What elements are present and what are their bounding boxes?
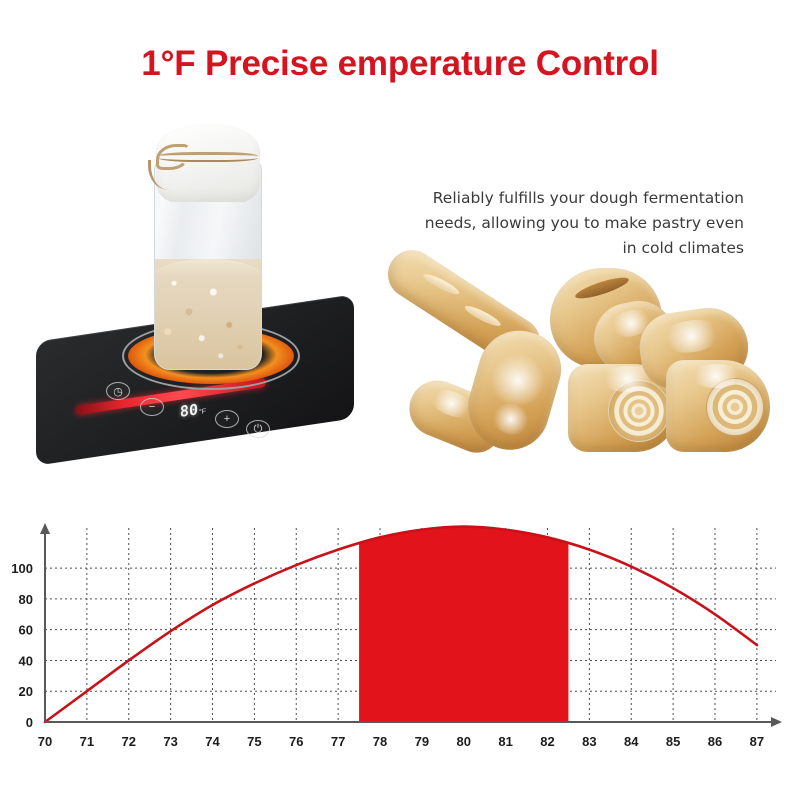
x-tick-label: 80 bbox=[457, 734, 471, 749]
x-tick-label: 77 bbox=[331, 734, 345, 749]
y-tick-label: 40 bbox=[19, 653, 33, 668]
plus-button[interactable]: + bbox=[215, 410, 239, 428]
bread-assortment-photo bbox=[378, 268, 776, 480]
chart-x-tick-labels: 707172737475767778798081828384858687 bbox=[38, 734, 764, 749]
jar-twine-tail bbox=[148, 160, 174, 190]
x-tick-label: 82 bbox=[540, 734, 554, 749]
x-tick-label: 74 bbox=[205, 734, 220, 749]
temperature-distribution-chart: 707172737475767778798081828384858687 020… bbox=[0, 505, 800, 800]
description-line-1: Reliably fulfills your dough fermentatio… bbox=[392, 186, 744, 211]
x-tick-label: 75 bbox=[247, 734, 261, 749]
chart-svg: 707172737475767778798081828384858687 020… bbox=[0, 505, 800, 800]
timer-glyph: ◷ bbox=[113, 385, 123, 398]
fermentation-jar bbox=[140, 120, 275, 370]
power-glyph: ⏻ bbox=[254, 423, 263, 436]
x-tick-label: 81 bbox=[498, 734, 512, 749]
right-front-swirl-loaf bbox=[666, 360, 770, 452]
description-block: Reliably fulfills your dough fermentatio… bbox=[392, 186, 744, 261]
y-tick-label: 20 bbox=[19, 684, 33, 699]
page-title: 1°F Precise emperature Control bbox=[0, 44, 800, 84]
x-tick-label: 73 bbox=[163, 734, 177, 749]
description-line-2: needs, allowing you to make pastry even bbox=[392, 211, 744, 236]
x-tick-label: 83 bbox=[582, 734, 596, 749]
timer-icon[interactable]: ◷ bbox=[106, 382, 130, 400]
chart-y-tick-labels: 020406080100 bbox=[11, 561, 33, 730]
x-tick-label: 71 bbox=[80, 734, 94, 749]
x-tick-label: 72 bbox=[122, 734, 136, 749]
sourdough-starter bbox=[155, 259, 261, 369]
starter-surface bbox=[155, 259, 261, 275]
y-tick-label: 0 bbox=[26, 715, 33, 730]
plus-glyph: + bbox=[224, 413, 230, 425]
y-tick-label: 80 bbox=[19, 592, 33, 607]
x-tick-label: 84 bbox=[624, 734, 639, 749]
x-tick-label: 78 bbox=[373, 734, 387, 749]
x-tick-label: 76 bbox=[289, 734, 303, 749]
minus-button[interactable]: − bbox=[140, 398, 164, 416]
chart-highlight-band bbox=[45, 527, 757, 722]
x-tick-label: 86 bbox=[708, 734, 722, 749]
x-tick-label: 85 bbox=[666, 734, 680, 749]
x-tick-label: 79 bbox=[415, 734, 429, 749]
display-unit: °F bbox=[199, 408, 206, 416]
minus-glyph: − bbox=[149, 401, 155, 413]
cooktop-product-photo: ◷ − + ⏻ 80 °F bbox=[30, 120, 360, 480]
description-line-3: in cold climates bbox=[392, 236, 744, 261]
display-value: 80 bbox=[180, 400, 198, 421]
power-button[interactable]: ⏻ bbox=[246, 420, 270, 438]
y-tick-label: 100 bbox=[11, 561, 33, 576]
x-tick-label: 70 bbox=[38, 734, 52, 749]
x-tick-label: 87 bbox=[750, 734, 764, 749]
product-infographic: 1°F Precise emperature Control Reliably … bbox=[0, 0, 800, 800]
y-tick-label: 60 bbox=[19, 623, 33, 638]
